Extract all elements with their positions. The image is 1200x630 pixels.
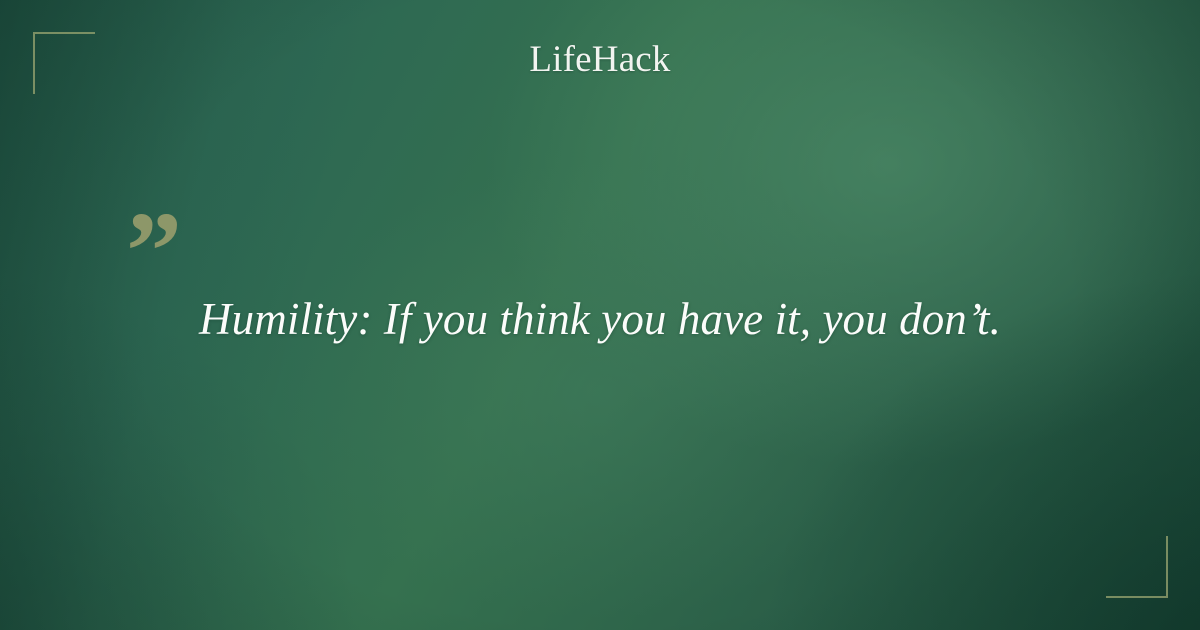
brand-logo: LifeHack [0, 41, 1200, 78]
quote-text: Humility: If you think you have it, you … [0, 293, 1200, 346]
quote-card: LifeHack ” Humility: If you think you ha… [0, 0, 1200, 630]
quote-mark-icon: ” [126, 196, 182, 308]
corner-bracket-bottom-right [1106, 536, 1168, 598]
